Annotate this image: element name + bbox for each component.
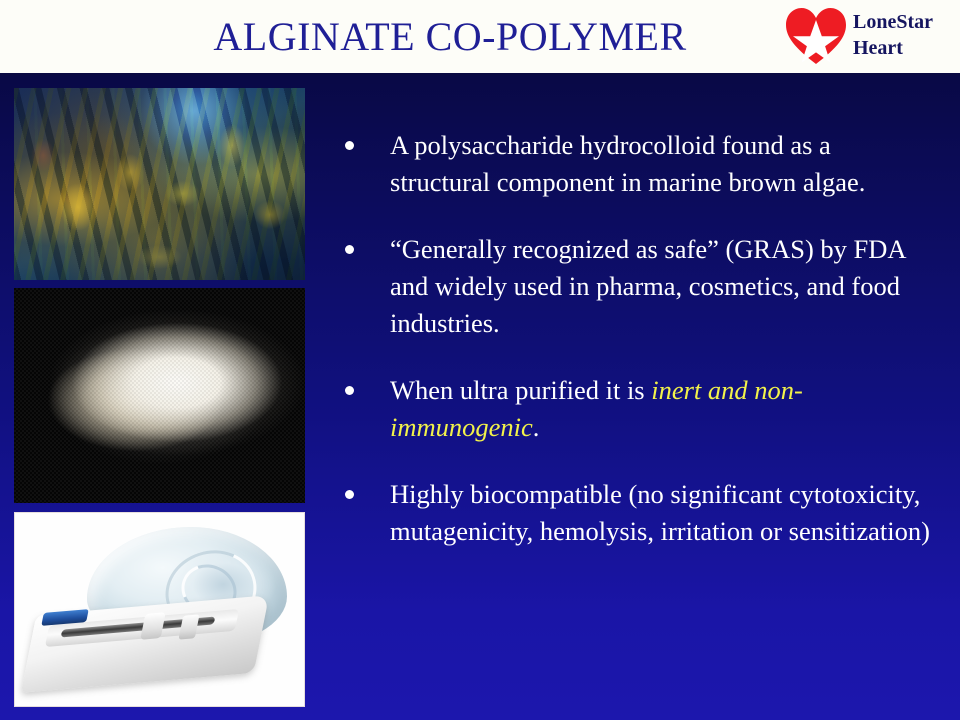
bullet-text-4: Highly biocompatible (no significant cyt… — [390, 479, 930, 546]
bullet-text-2: “Generally recognized as safe” (GRAS) by… — [390, 234, 905, 338]
bullet-item-3: When ultra purified it is inert and non-… — [336, 372, 932, 446]
header-divider-rule — [0, 73, 960, 76]
hydrogel-injector-photo — [14, 512, 305, 707]
bullet-item-4: Highly biocompatible (no significant cyt… — [336, 476, 932, 550]
bullet-list: A polysaccharide hydrocolloid found as a… — [336, 127, 932, 550]
bullet-text-1: A polysaccharide hydrocolloid found as a… — [390, 130, 865, 197]
slide-title: ALGINATE CO-POLYMER — [0, 14, 900, 60]
logo-line-1: LoneStar — [853, 9, 933, 35]
bullet-dot-icon — [345, 245, 354, 254]
logo-line-2: Heart — [853, 35, 933, 61]
heart-star-icon — [785, 7, 847, 65]
bullet-dot-icon — [345, 490, 354, 499]
presentation-slide: ALGINATE CO-POLYMER LoneStar Heart — [0, 0, 960, 720]
bullet-text-3-tail: . — [533, 412, 540, 442]
bullet-item-2: “Generally recognized as safe” (GRAS) by… — [336, 231, 932, 342]
kelp-frond-highlights — [14, 88, 305, 280]
powder-grain-texture — [14, 288, 305, 503]
bullet-text-3-lead: When ultra purified it is — [390, 375, 651, 405]
bullet-dot-icon — [345, 141, 354, 150]
alginate-powder-photo — [14, 288, 305, 503]
logo-wordmark: LoneStar Heart — [853, 9, 933, 61]
bullet-item-1: A polysaccharide hydrocolloid found as a… — [336, 127, 932, 201]
bullet-dot-icon — [345, 386, 354, 395]
kelp-forest-photo — [14, 88, 305, 280]
lonestar-heart-logo: LoneStar Heart — [785, 7, 953, 69]
